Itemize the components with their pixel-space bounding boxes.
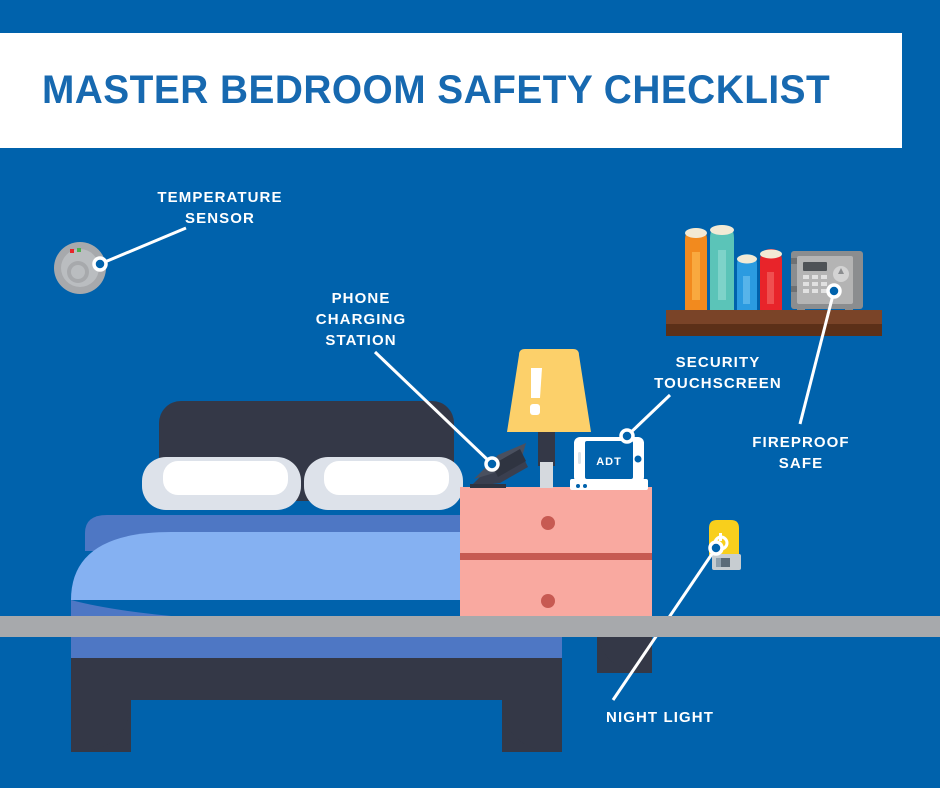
safe-display [803,262,827,271]
nightstand-knob-bottom [541,594,555,608]
page-title: MASTER BEDROOM SAFETY CHECKLIST [42,68,830,113]
callout-label-fireproof-safe: FIREPROOF SAFE [736,432,866,474]
safe-foot-right [845,304,853,310]
leader-dots [94,258,840,554]
books-group [685,225,782,310]
callout-label-security-touchscreen: SECURITY TOUCHSCREEN [640,352,796,394]
lamp-highlight-bar [531,368,542,398]
bed-leg-right [502,698,562,752]
leader-fireproof-safe [800,291,834,424]
phone-dock-icon [470,443,528,488]
book-red [760,249,782,310]
book-red-cap [760,250,782,259]
tablet-side-button [578,452,581,464]
bed-headboard [159,401,454,501]
tablet-screen [585,441,633,479]
bed-leg-right-curve [502,698,562,752]
infographic-canvas: ADT MASTER BEDROOM S [0,0,940,788]
book-blue-cap [737,255,757,264]
book-orange [685,228,707,310]
tablet-icon: ADT [570,437,648,490]
duvet-top [71,532,562,600]
safe-keypad [803,275,827,293]
leader-dot-fireproof-safe [828,285,840,297]
pillow-left [142,457,301,510]
safe-body [797,256,853,304]
lamp-shade [507,349,591,432]
safe-dial-pointer [838,268,844,274]
table-lamp-icon [507,349,591,488]
baseboard-strip [0,616,940,637]
fireproof-safe-icon [791,251,863,310]
tablet-dock-led-2 [583,484,587,488]
night-light-socket-slot [716,558,721,567]
tablet-frame [574,437,644,483]
book-red-stripe [767,272,774,304]
safe-hinge-top [791,258,797,264]
bed-base [71,658,562,698]
duvet-upper-band [85,515,562,551]
nightstand-knob-top [541,516,555,530]
pillow-right [304,457,463,510]
nightstand-group [460,487,652,673]
lamp-stem [540,462,553,488]
book-blue [737,254,757,310]
phone-screen [492,449,526,477]
leader-dot-temperature-sensor [94,258,106,270]
leader-dot-security-touchscreen [621,430,633,442]
lamp-neck [538,432,555,466]
book-orange-cap [685,228,707,238]
duvet-front-lower [71,645,562,670]
book-orange-stripe [692,252,700,300]
shelf-front [666,324,882,336]
title-bar: MASTER BEDROOM SAFETY CHECKLIST [0,33,902,148]
lamp-highlight-dot [530,404,540,415]
shelf-top [666,310,882,324]
safe-foot-left [797,304,805,310]
bed-base-shadow [71,690,562,700]
safe-hinge-bottom [791,286,797,292]
nightstand-body [460,487,652,623]
phone-dock-base [470,451,528,487]
phone-body [474,443,526,479]
night-light-plate [712,554,741,570]
callout-label-phone-charging-station: PHONE CHARGING STATION [288,288,434,351]
tablet-dock [570,479,648,490]
sensor-led-red [70,249,74,253]
callout-label-temperature-sensor: TEMPERATURE SENSOR [145,187,295,229]
phone-dock-foot [470,484,506,488]
leader-dot-night-light [710,542,722,554]
tablet-dock-led-1 [576,484,580,488]
sensor-led-green [77,248,81,252]
bed-leg-left-curve [71,698,131,752]
book-teal-stripe [718,250,726,300]
safe-dial [833,266,849,282]
night-light-body [709,520,739,555]
book-blue-stripe [743,276,750,304]
leader-dot-phone-charging-station [486,458,498,470]
book-teal [710,225,734,310]
nightstand-drawer-divider [460,553,652,560]
safe-shell [791,251,863,309]
temperature-sensor-icon [54,242,106,294]
night-light-icon [709,520,741,570]
leader-phone-charging-station [375,352,492,464]
bed-group [71,401,562,752]
tablet-home-dot [635,456,642,463]
night-light-glow-ring [715,537,727,549]
leader-temperature-sensor [100,228,186,264]
bed-leg-left [71,698,131,752]
night-light-socket [716,558,730,567]
book-teal-cap [710,225,734,235]
night-light-prong [719,533,722,541]
tablet-brand-text: ADT [596,456,622,468]
leader-security-touchscreen [627,395,670,436]
callout-label-night-light: NIGHT LIGHT [587,707,733,728]
wall-shelf-group [666,225,882,336]
